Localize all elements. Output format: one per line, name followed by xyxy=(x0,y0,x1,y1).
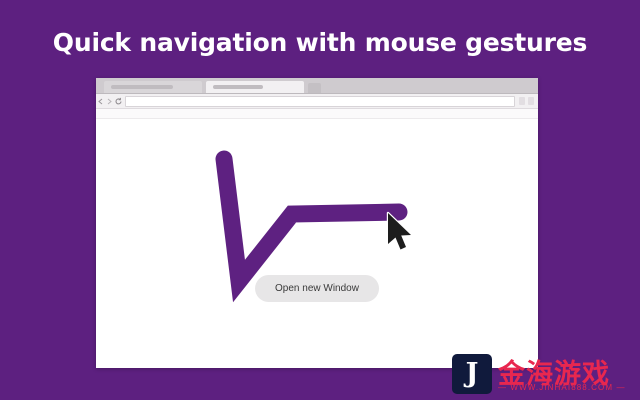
mouse-arrow-cursor xyxy=(385,211,419,253)
arrow-right-icon[interactable] xyxy=(105,94,114,108)
open-new-window-button[interactable]: Open new Window xyxy=(255,275,379,302)
v-then-right-gesture xyxy=(96,119,538,368)
browser-tab-1-title-placeholder xyxy=(111,85,173,89)
reload-icon[interactable] xyxy=(114,94,123,108)
browser-tab-2[interactable] xyxy=(206,81,304,93)
page-title: Quick navigation with mouse gestures xyxy=(0,28,640,57)
toolbar-right-icons xyxy=(519,97,538,105)
browser-window-mock: Open new Window xyxy=(96,78,538,368)
browser-tab-bar xyxy=(96,78,538,94)
menu-icon[interactable] xyxy=(519,97,525,105)
address-bar[interactable] xyxy=(125,96,515,107)
watermark-site-url: — WWW.JINHAI888.COM — xyxy=(498,383,626,392)
browser-toolbar xyxy=(96,94,538,109)
promo-banner: Quick navigation with mouse gestures xyxy=(0,0,640,400)
watermark-logo-mark: J xyxy=(452,354,492,394)
new-tab-button[interactable] xyxy=(308,83,321,93)
bookmarks-bar xyxy=(96,109,538,119)
arrow-left-icon[interactable] xyxy=(96,94,105,108)
browser-tab-2-title-placeholder xyxy=(213,85,263,89)
page-content-area: Open new Window xyxy=(96,119,538,368)
watermark: J 金海游戏 — WWW.JINHAI888.COM — xyxy=(452,352,638,398)
more-icon[interactable] xyxy=(528,97,534,105)
browser-tab-1[interactable] xyxy=(104,81,202,93)
